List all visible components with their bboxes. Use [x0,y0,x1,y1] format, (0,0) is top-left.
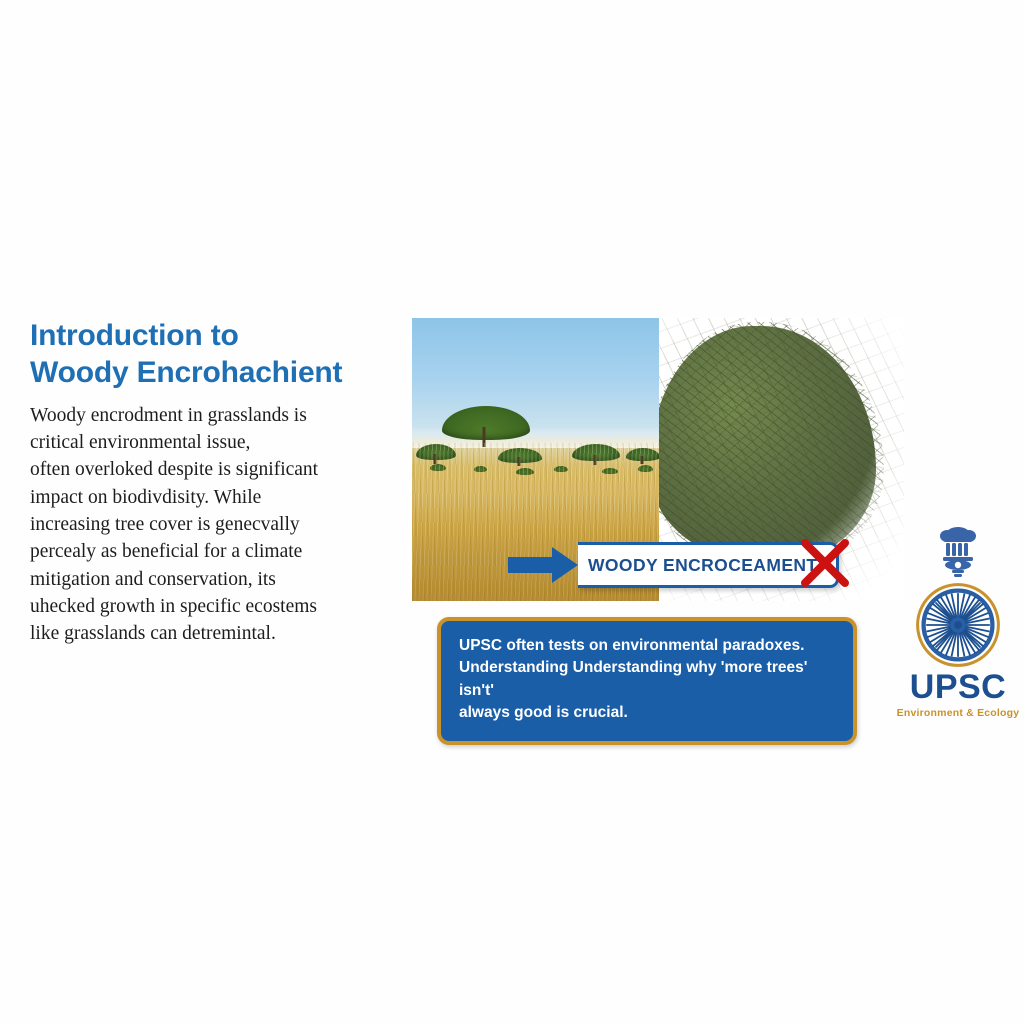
logo-wordmark: UPSC [893,670,1023,704]
woody-encroachment-banner: WOODY ENCROCEAMENT [508,543,839,587]
ashoka-lion-capital-icon [932,524,984,580]
upsc-tip-callout: UPSC often tests on environmental parado… [437,617,857,745]
acacia-canopy [442,406,530,440]
red-x-icon [795,533,855,593]
ashoka-chakra-icon [915,582,1001,668]
logo-tagline: Environment & Ecology [893,707,1023,719]
page-title: Introduction to Woody Encrohachient [30,318,405,392]
body-paragraph: Woody encrodment in grasslands is critic… [30,402,405,648]
callout-text: UPSC often tests on environmental parado… [459,635,835,725]
acacia-tree-large [442,406,530,440]
upsc-logo: UPSC Environment & Ecology [893,524,1023,708]
right-arrow-icon [508,543,580,587]
text-column: Introduction to Woody Encrohachient Wood… [30,318,405,647]
slide-canvas: Introduction to Woody Encrohachient Wood… [0,0,1024,1024]
banner-label: WOODY ENCROCEAMENT [588,555,818,576]
